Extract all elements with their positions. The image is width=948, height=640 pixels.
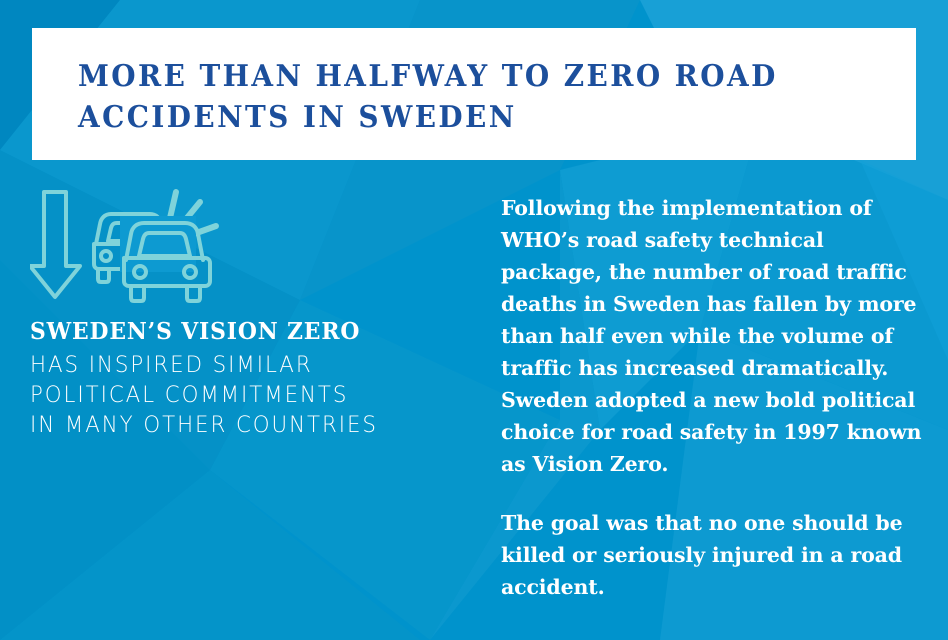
down-arrow-icon <box>30 192 80 297</box>
left-column: SWEDEN’S VISION ZERO HAS INSPIRED SIMILA… <box>30 186 470 441</box>
title-panel: MORE THAN HALFWAY TO ZERO ROAD ACCIDENTS… <box>32 28 916 160</box>
right-column: Following the implementation of WHO’s ro… <box>501 192 925 603</box>
vision-zero-heading: SWEDEN’S VISION ZERO <box>30 318 448 345</box>
car-crash-decreasing-icon <box>30 186 230 304</box>
car-front-icon <box>120 216 210 301</box>
vision-zero-subheading: HAS INSPIRED SIMILAR POLITICAL COMMITMEN… <box>30 351 457 441</box>
infographic-root: MORE THAN HALFWAY TO ZERO ROAD ACCIDENTS… <box>0 0 948 640</box>
body-paragraph-2: The goal was that no one should be kille… <box>501 507 925 603</box>
page-title: MORE THAN HALFWAY TO ZERO ROAD ACCIDENTS… <box>78 56 822 138</box>
body-paragraph-1: Following the implementation of WHO’s ro… <box>501 192 925 480</box>
